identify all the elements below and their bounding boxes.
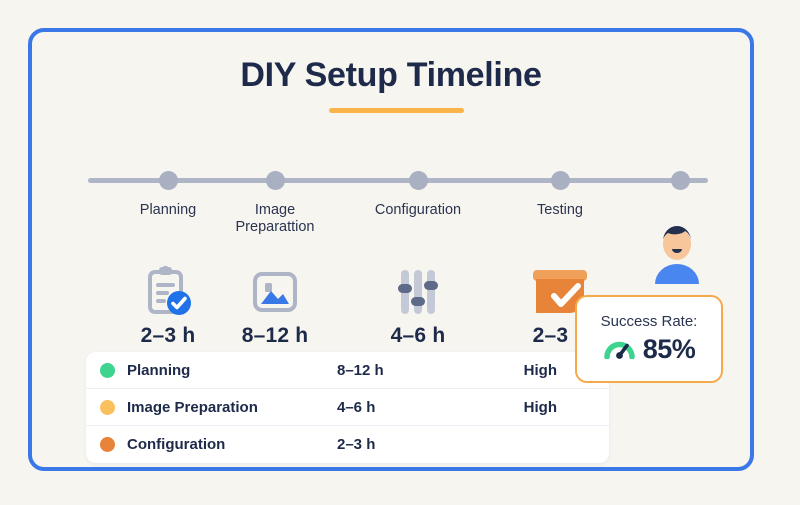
image-icon	[215, 264, 335, 320]
clipboard-check-icon	[108, 264, 228, 320]
infographic-card: DIY Setup Timeline Planning Image Prepar…	[28, 28, 754, 471]
timeline-node-3[interactable]	[409, 171, 428, 190]
timeline-label-configuration: Configuration	[343, 202, 493, 219]
avatar-icon	[649, 222, 705, 284]
step-duration-image-preparation: 8–12 h	[215, 324, 335, 348]
timeline-track	[88, 178, 708, 183]
success-rate-value: 85%	[643, 334, 696, 365]
status-dot-image-preparation	[100, 400, 115, 415]
success-rate-label: Success Rate:	[601, 313, 698, 330]
timeline-node-2[interactable]	[266, 171, 285, 190]
row-duration: 2–3 h	[337, 436, 487, 453]
timeline-node-4[interactable]	[551, 171, 570, 190]
success-rate-card: Success Rate: 85%	[575, 295, 723, 383]
table-row[interactable]: Configuration 2–3 h	[86, 426, 609, 463]
timeline: Planning Image Preparattion Configuratio…	[88, 172, 708, 188]
timeline-label-testing: Testing	[485, 202, 635, 219]
timeline-label-image-preparation: Image Preparattion	[200, 202, 350, 236]
summary-table: Planning 8–12 h High Image Preparation 4…	[86, 352, 609, 463]
title-underline-accent	[329, 108, 464, 113]
step-duration-configuration: 4–6 h	[358, 324, 478, 348]
row-level: High	[487, 399, 609, 416]
row-name: Image Preparation	[115, 399, 337, 416]
table-row[interactable]: Image Preparation 4–6 h High	[86, 389, 609, 426]
row-name: Planning	[115, 362, 337, 379]
status-dot-planning	[100, 363, 115, 378]
row-duration: 4–6 h	[337, 399, 487, 416]
row-name: Configuration	[115, 436, 337, 453]
gauge-icon	[603, 336, 636, 364]
step-planning: 2–3 h	[108, 264, 228, 348]
step-duration-planning: 2–3 h	[108, 324, 228, 348]
timeline-node-1[interactable]	[159, 171, 178, 190]
timeline-node-5[interactable]	[671, 171, 690, 190]
page-title: DIY Setup Timeline	[32, 56, 750, 95]
step-configuration: 4–6 h	[358, 264, 478, 348]
sliders-icon	[358, 264, 478, 320]
step-image-preparation: 8–12 h	[215, 264, 335, 348]
row-duration: 8–12 h	[337, 362, 487, 379]
table-row[interactable]: Planning 8–12 h High	[86, 352, 609, 389]
status-dot-configuration	[100, 437, 115, 452]
